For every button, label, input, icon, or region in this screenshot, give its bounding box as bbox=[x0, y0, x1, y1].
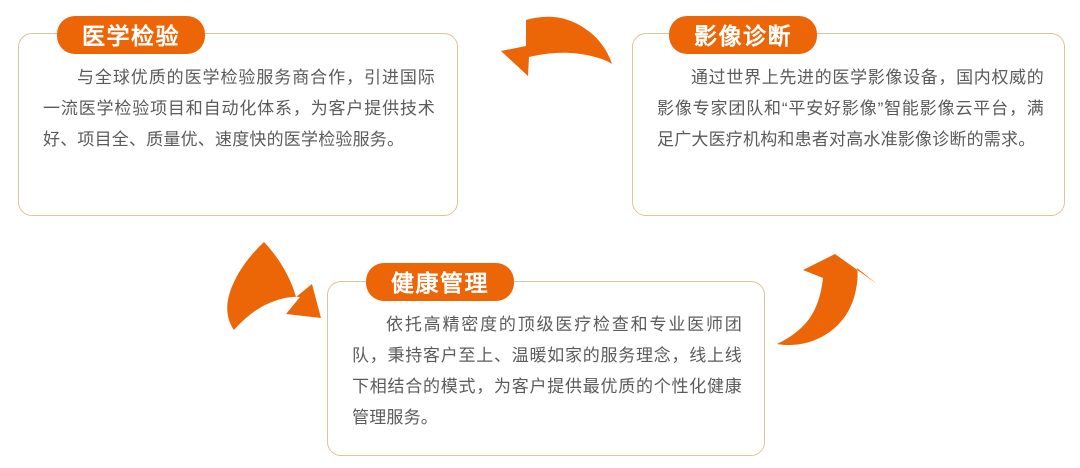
card-medical-lab: 与全球优质的医学检验服务商合作，引进国际一流医学检验项目和自动化体系，为客户提供… bbox=[18, 33, 458, 216]
card-medical-lab-body: 与全球优质的医学检验服务商合作，引进国际一流医学检验项目和自动化体系，为客户提供… bbox=[19, 62, 457, 155]
card-health-management: 依托高精密度的顶级医疗检查和专业医师团队，秉持客户至上、温暖如家的服务理念，线上… bbox=[327, 281, 765, 456]
card-health-management-badge: 健康管理 bbox=[366, 263, 514, 301]
curved-arrow-up-icon bbox=[775, 248, 893, 360]
card-imaging-diagnosis-body: 通过世界上先进的医学影像设备，国内权威的影像专家团队和“平安好影像”智能影像云平… bbox=[633, 62, 1064, 155]
card-imaging-diagnosis: 通过世界上先进的医学影像设备，国内权威的影像专家团队和“平安好影像”智能影像云平… bbox=[632, 33, 1065, 216]
curved-arrow-down-icon bbox=[218, 240, 328, 332]
card-imaging-diagnosis-badge: 影像诊断 bbox=[669, 16, 817, 54]
card-health-management-body: 依托高精密度的顶级医疗检查和专业医师团队，秉持客户至上、温暖如家的服务理念，线上… bbox=[328, 309, 764, 433]
diagram-canvas: 与全球优质的医学检验服务商合作，引进国际一流医学检验项目和自动化体系，为客户提供… bbox=[0, 0, 1080, 468]
card-medical-lab-badge: 医学检验 bbox=[57, 16, 205, 54]
curved-arrow-left-icon bbox=[495, 4, 613, 82]
